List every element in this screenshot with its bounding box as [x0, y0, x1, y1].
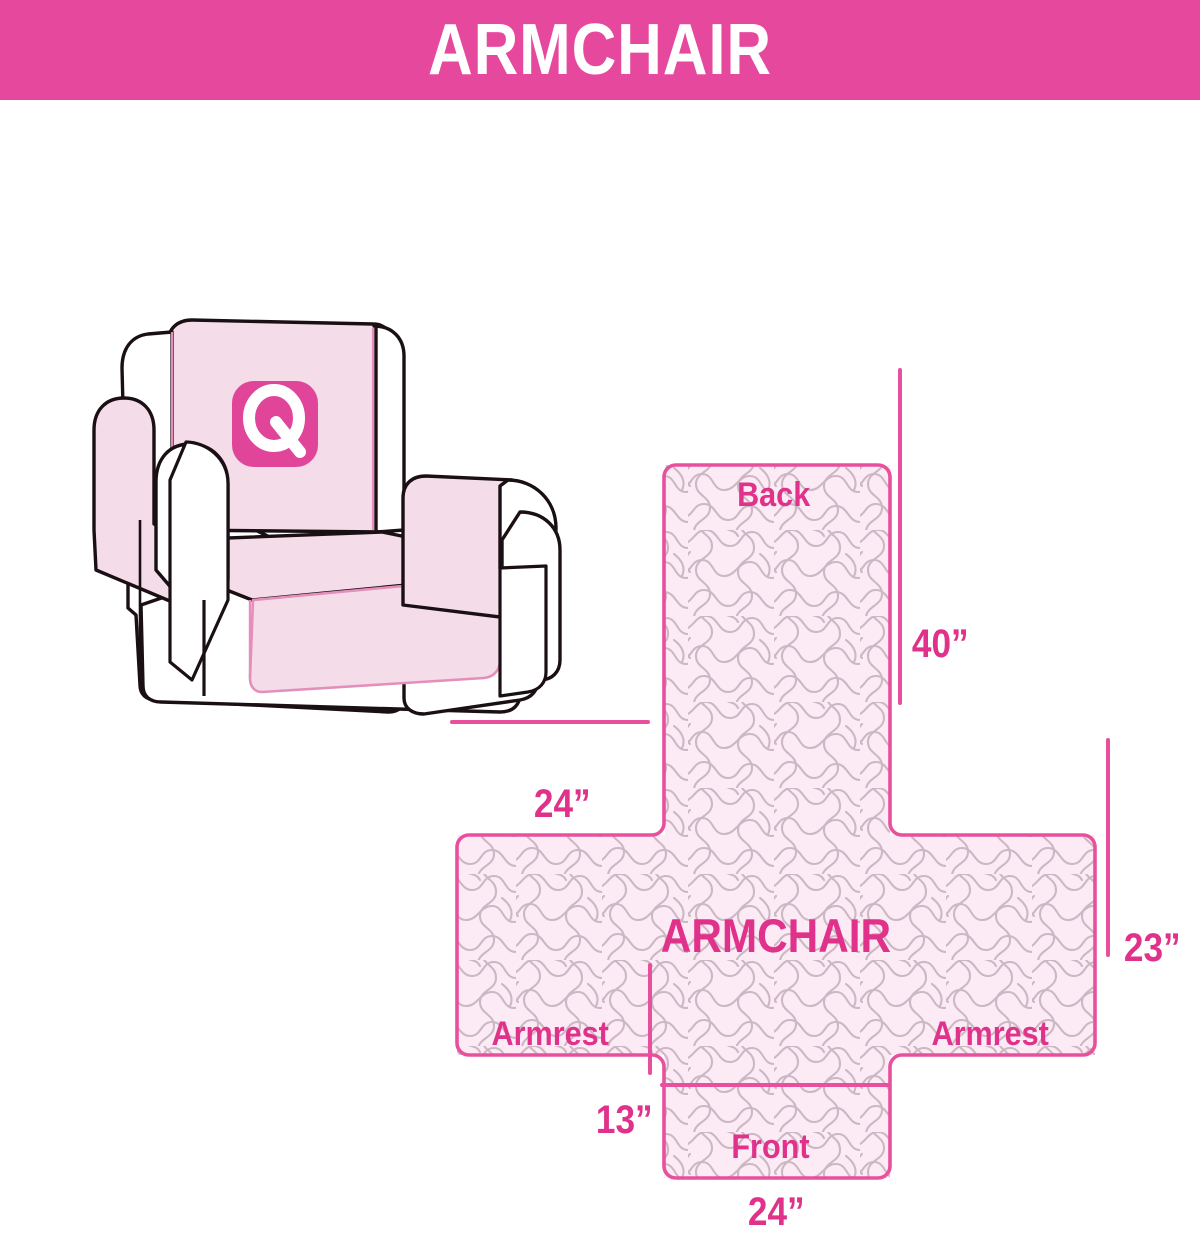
panel-label-back: Back: [737, 478, 810, 512]
page-title: ARMCHAIR: [428, 14, 772, 86]
dimension-label-back-width: 24”: [534, 784, 591, 824]
dimension-label-back-height: 40”: [912, 624, 969, 664]
panel-label-front: Front: [731, 1130, 809, 1164]
dimension-label-front-width: 24”: [748, 1192, 805, 1232]
dimension-label-front-height: 13”: [596, 1100, 653, 1140]
diagram-canvas: Back ARMCHAIR Armrest Armrest Front 40” …: [0, 100, 1200, 1200]
armchair-illustration: [94, 320, 560, 714]
pattern-center-label: ARMCHAIR: [661, 912, 891, 959]
header-banner: ARMCHAIR: [0, 0, 1200, 100]
panel-label-armrest-left: Armrest: [492, 1017, 609, 1051]
dimension-label-armrest-height: 23”: [1124, 928, 1181, 968]
panel-label-armrest-right: Armrest: [932, 1017, 1049, 1051]
brand-logo-badge: [232, 381, 318, 467]
